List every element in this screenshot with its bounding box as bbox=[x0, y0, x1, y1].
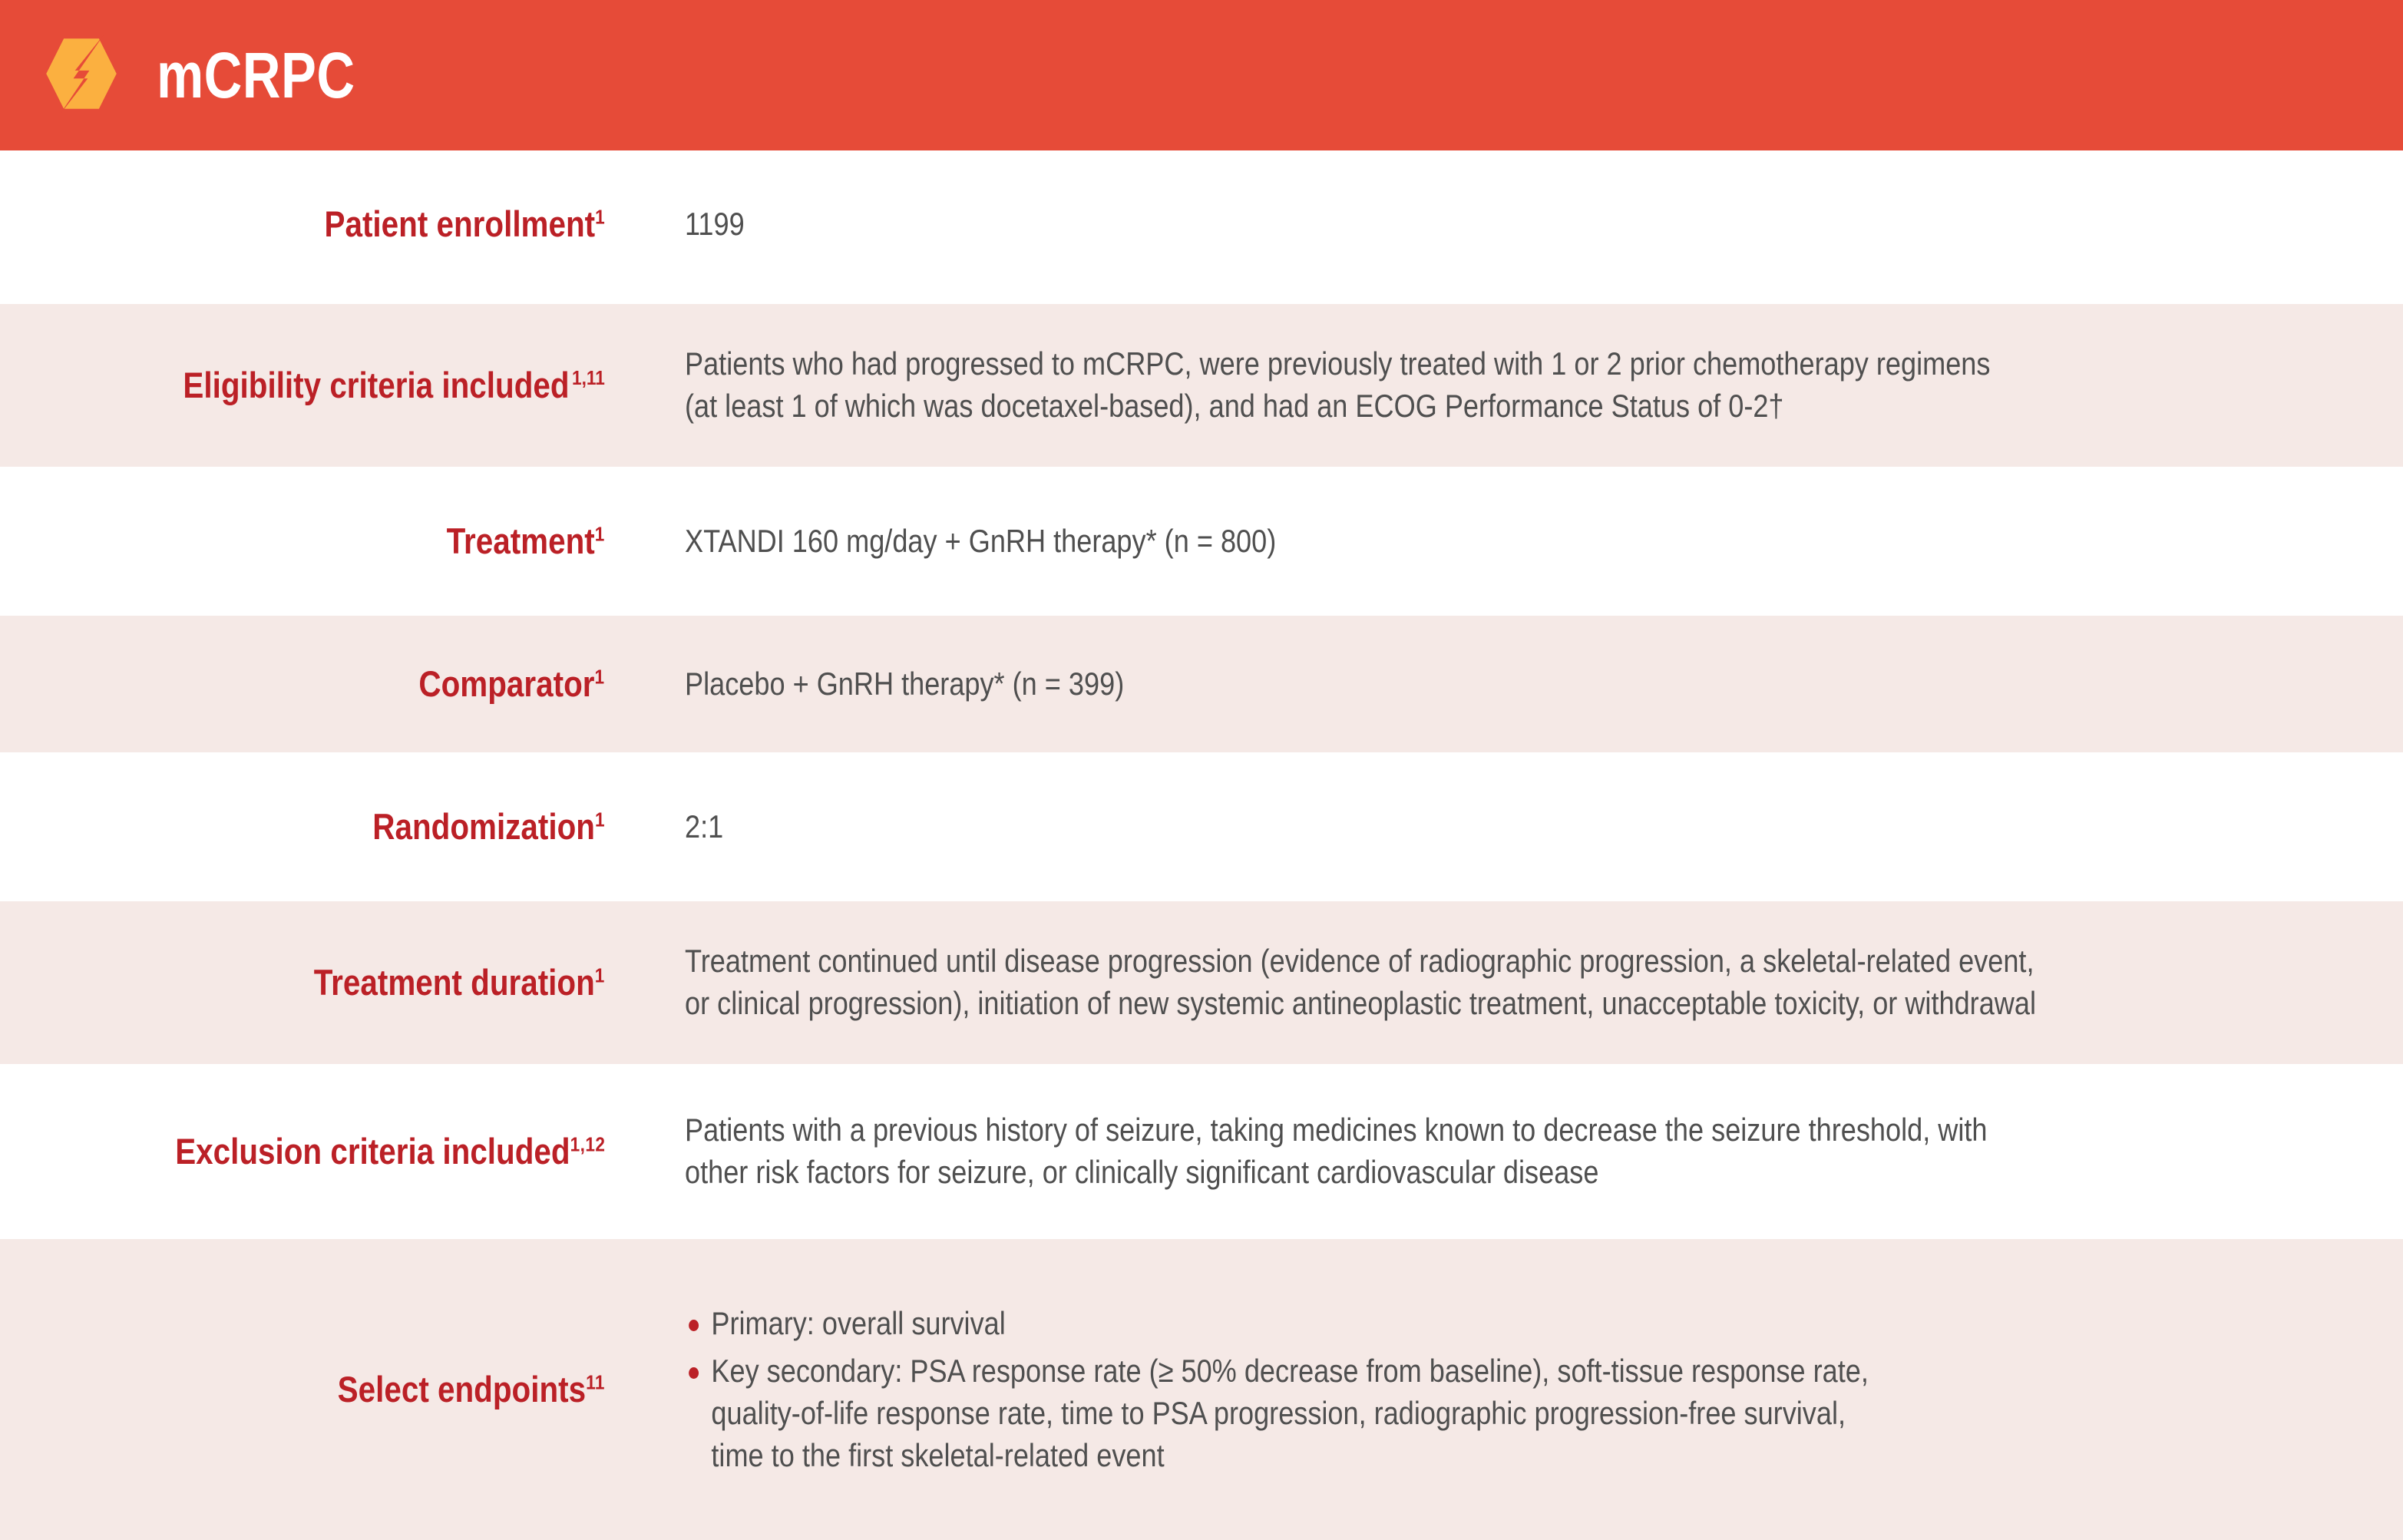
row-label-refs: 1 bbox=[595, 665, 605, 688]
row-divider bbox=[0, 752, 2403, 758]
value-line: quality-of-life response rate, time to P… bbox=[711, 1393, 1869, 1435]
row-label-refs: 1 bbox=[595, 205, 605, 228]
row-value: 1199 bbox=[622, 203, 2403, 246]
row-label: Treatment1 bbox=[0, 522, 622, 561]
value-line: 2:1 bbox=[685, 806, 723, 848]
row-label: Select endpoints11 bbox=[0, 1370, 622, 1409]
row-value: Primary: overall survival Key secondary:… bbox=[622, 1303, 2403, 1476]
row-label-text: Treatment duration bbox=[314, 962, 595, 1003]
row-label-text: Exclusion criteria included bbox=[175, 1131, 570, 1172]
list-item: Primary: overall survival bbox=[685, 1303, 1869, 1345]
row-divider bbox=[0, 1233, 2403, 1239]
value-line: 1199 bbox=[685, 203, 745, 246]
header-bar: mCRPC bbox=[0, 0, 2403, 150]
value-line: or clinical progression), initiation of … bbox=[685, 983, 2036, 1025]
value-line: Treatment continued until disease progre… bbox=[685, 940, 2036, 983]
row-label-text: Comparator bbox=[419, 663, 595, 704]
list-item: Key secondary: PSA response rate (≥ 50% … bbox=[685, 1350, 1869, 1476]
row-label-text: Eligibility criteria included bbox=[183, 365, 570, 405]
table-row: Eligibility criteria included1,11 Patien… bbox=[0, 304, 2403, 467]
value-line: Placebo + GnRH therapy* (n = 399) bbox=[685, 663, 1124, 706]
row-value: 2:1 bbox=[622, 806, 2403, 848]
value-line: XTANDI 160 mg/day + GnRH therapy* (n = 8… bbox=[685, 520, 1276, 563]
value-line: (at least 1 of which was docetaxel-based… bbox=[685, 385, 1990, 428]
row-divider bbox=[0, 895, 2403, 901]
row-label-text: Randomization bbox=[372, 806, 595, 847]
table-row: Randomization1 2:1 bbox=[0, 758, 2403, 895]
study-design-table: Patient enrollment1 1199 Eligibility cri… bbox=[0, 150, 2403, 1540]
row-value: XTANDI 160 mg/day + GnRH therapy* (n = 8… bbox=[622, 520, 2403, 563]
lightning-bolt-hexagon-icon bbox=[41, 34, 121, 114]
row-value: Patients with a previous history of seiz… bbox=[622, 1109, 2403, 1193]
table-row: Treatment duration1 Treatment continued … bbox=[0, 901, 2403, 1064]
row-divider bbox=[0, 467, 2403, 473]
row-label-refs: 11 bbox=[586, 1370, 605, 1393]
row-divider bbox=[0, 298, 2403, 304]
row-label: Comparator1 bbox=[0, 665, 622, 704]
value-line: Patients who had progressed to mCRPC, we… bbox=[685, 343, 1990, 385]
row-label-refs: 1 bbox=[595, 522, 605, 545]
table-row: Treatment1 XTANDI 160 mg/day + GnRH ther… bbox=[0, 473, 2403, 610]
row-label: Eligibility criteria included1,11 bbox=[0, 366, 622, 405]
row-label-refs: 1,12 bbox=[570, 1132, 605, 1155]
table-row: Select endpoints11 Primary: overall surv… bbox=[0, 1239, 2403, 1540]
row-divider bbox=[0, 1064, 2403, 1070]
row-label: Exclusion criteria included1,12 bbox=[0, 1132, 622, 1172]
row-label-text: Patient enrollment bbox=[324, 203, 595, 244]
row-value: Patients who had progressed to mCRPC, we… bbox=[622, 343, 2403, 427]
table-row: Exclusion criteria included1,12 Patients… bbox=[0, 1070, 2403, 1233]
row-label: Treatment duration1 bbox=[0, 963, 622, 1003]
row-label: Patient enrollment1 bbox=[0, 205, 622, 244]
value-line: Key secondary: PSA response rate (≥ 50% … bbox=[711, 1350, 1869, 1393]
row-label-refs: 1,11 bbox=[570, 366, 605, 389]
value-line: Patients with a previous history of seiz… bbox=[685, 1109, 1987, 1152]
mcrpc-study-design-table: mCRPC Patient enrollment1 1199 Eligibili… bbox=[0, 0, 2403, 1512]
endpoints-list: Primary: overall survival Key secondary:… bbox=[685, 1303, 1869, 1476]
value-line: other risk factors for seizure, or clini… bbox=[685, 1152, 1987, 1194]
row-value: Placebo + GnRH therapy* (n = 399) bbox=[622, 663, 2403, 706]
table-row: Comparator1 Placebo + GnRH therapy* (n =… bbox=[0, 616, 2403, 752]
bullet-dot-icon bbox=[689, 1367, 699, 1379]
row-label-refs: 1 bbox=[595, 808, 605, 831]
page-title: mCRPC bbox=[157, 43, 355, 107]
table-row: Patient enrollment1 1199 bbox=[0, 150, 2403, 298]
row-label: Randomization1 bbox=[0, 808, 622, 847]
value-line: Primary: overall survival bbox=[711, 1303, 1869, 1345]
row-label-text: Treatment bbox=[447, 520, 595, 561]
row-label-refs: 1 bbox=[595, 963, 605, 986]
bullet-dot-icon bbox=[689, 1320, 699, 1331]
row-value: Treatment continued until disease progre… bbox=[622, 940, 2403, 1024]
value-line: time to the first skeletal-related event bbox=[711, 1435, 1869, 1477]
row-label-text: Select endpoints bbox=[338, 1369, 586, 1409]
row-divider bbox=[0, 610, 2403, 616]
